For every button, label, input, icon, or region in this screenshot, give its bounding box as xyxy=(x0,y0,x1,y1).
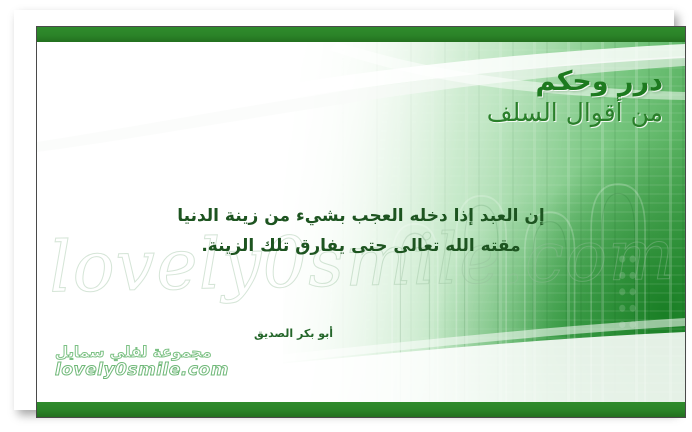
card-canvas: lovely0smile.com درر وحكم من أقوال السلف… xyxy=(37,42,685,402)
brand-name-arabic: مجموعة لفلي سمايل xyxy=(55,344,229,361)
quote-card-root: lovely0smile.com درر وحكم من أقوال السلف… xyxy=(0,0,692,432)
card-subtitle: من أقوال السلف xyxy=(487,99,663,128)
card-inner-frame: lovely0smile.com درر وحكم من أقوال السلف… xyxy=(36,26,686,418)
quote-line-2: مقته الله تعالى حتى يفارق تلك الزينة. xyxy=(73,232,649,262)
footer-brand: مجموعة لفلي سمايل lovely0smile.com xyxy=(55,344,229,380)
top-green-bar xyxy=(37,27,685,42)
mosque-dome-silhouette-icon xyxy=(361,121,672,402)
brand-website-url: lovely0smile.com xyxy=(55,361,229,380)
card-title: درر وحكم xyxy=(487,66,663,97)
quote-block: إن العبد إذا دخله العجب بشيء من زينة الد… xyxy=(37,202,685,262)
card-header: درر وحكم من أقوال السلف xyxy=(487,66,663,128)
card-outer-shadow-panel: lovely0smile.com درر وحكم من أقوال السلف… xyxy=(14,10,674,410)
quote-line-1: إن العبد إذا دخله العجب بشيء من زينة الد… xyxy=(73,202,649,232)
quote-attribution: أبو بكر الصديق xyxy=(73,327,333,340)
bottom-green-bar xyxy=(37,402,685,417)
